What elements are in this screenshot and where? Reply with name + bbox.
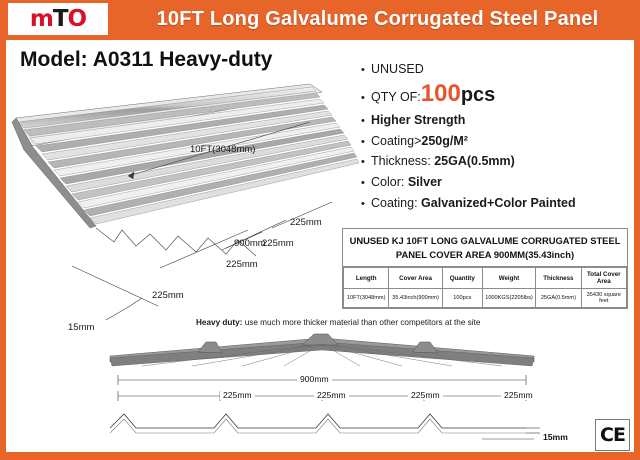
spec-title-line-2: PANEL COVER AREA 900MM(35.43inch) [349,248,621,262]
feature-label-color: Color: [371,175,404,191]
feature-item-coating-weight: • Coating> 250g/M² [361,134,626,150]
dimension-rib-label-1: 225mm [152,290,184,301]
feature-label-thickness: Thickness: [371,154,431,170]
section-height-label: 15mm [540,432,571,442]
note-text: use much more thicker material than othe… [242,318,480,327]
model-label: Model: A0311 Heavy-duty [20,48,272,72]
bullet-dot-icon: • [361,177,371,191]
cell-total-cover: 35430 square feet [581,289,626,308]
cell-length: 10FT(3048mm) [344,289,389,308]
dimension-rib-label-2: 225mm [226,259,258,270]
cell-cover-area: 35.43inch(900mm) [389,289,442,308]
specification-table-title: UNUSED KJ 10FT LONG GALVALUME CORRUGATED… [343,229,627,267]
bullet-dot-icon: • [361,92,371,106]
cell-quantity: 100pcs [442,289,482,308]
bullet-dot-icon: • [361,64,371,78]
quantity-number: 100 [421,83,461,105]
section-segment-label-1: 225mm [220,390,255,400]
bullet-dot-icon: • [361,136,371,150]
feature-value-thickness: 25GA(0.5mm) [434,154,515,170]
feature-list: • UNUSED • QTY OF: 100pcs • Higher Stren… [361,62,626,217]
section-total-width-label: 900mm [297,374,332,384]
section-segment-label-3: 225mm [408,390,443,400]
column-header-quantity: Quantity [442,268,482,289]
dimension-length-label: 10FT(3048mm) [190,144,255,155]
specification-table: UNUSED KJ 10FT LONG GALVALUME CORRUGATED… [342,228,628,309]
feature-value-coating-type: Galvanized+Color Painted [421,196,576,212]
page-title: 10FT Long Galvalume Corrugated Steel Pan… [120,0,635,38]
bullet-dot-icon: • [361,115,371,129]
feature-label-unused: UNUSED [371,62,424,78]
quantity-unit: pcs [461,83,495,108]
table-header-row: Length Cover Area Quantity Weight Thickn… [344,268,627,289]
bullet-dot-icon: • [361,198,371,212]
section-segment-label-2: 225mm [314,390,349,400]
brand-logo: mTO [8,3,108,35]
dimension-height-label: 15mm [68,322,94,333]
bullet-dot-icon: • [361,156,371,170]
column-header-total-cover: Total Cover Area [581,268,626,289]
feature-label-coating-type: Coating: [371,196,418,212]
panel-isometric-svg [10,70,360,330]
product-spec-sheet: mTO 10FT Long Galvalume Corrugated Steel… [0,0,640,460]
ce-mark-badge: CE [595,419,630,451]
feature-value-coating-weight: 250g/M² [421,134,468,150]
header-bar: mTO 10FT Long Galvalume Corrugated Steel… [0,0,640,38]
note-lead: Heavy duty: [196,318,242,327]
column-header-weight: Weight [482,268,535,289]
dimension-cover-label: 900mm [234,238,266,249]
feature-value-color: Silver [408,175,442,191]
feature-item-coating-type: • Coating: Galvanized+Color Painted [361,196,626,212]
feature-item-unused: • UNUSED [361,62,626,78]
cell-thickness: 25GA(0.5mm) [536,289,581,308]
cell-weight: 1000KGS(2205lbs) [482,289,535,308]
section-segment-label-4: 225mm [501,390,536,400]
feature-item-thickness: • Thickness: 25GA(0.5mm) [361,154,626,170]
feature-item-quantity: • QTY OF: 100pcs [361,83,626,108]
feature-label-quantity: QTY OF: [371,90,421,106]
cross-section-illustration: 900mm 225mm 225mm 225mm 225mm 15mm [102,332,542,412]
logo-text: mTO [30,8,86,31]
column-header-thickness: Thickness [536,268,581,289]
panel-isometric-illustration: 10FT(3048mm) 900mm 225mm 225mm 225mm 225… [10,70,360,330]
spec-title-line-1: UNUSED KJ 10FT LONG GALVALUME CORRUGATED… [349,234,621,248]
column-header-cover-area: Cover Area [389,268,442,289]
ce-mark-text: CE [600,424,625,446]
feature-item-color: • Color: Silver [361,175,626,191]
content-area: Model: A0311 Heavy-duty [6,40,634,452]
spec-table-grid: Length Cover Area Quantity Weight Thickn… [343,267,627,308]
column-header-length: Length [344,268,389,289]
table-row: 10FT(3048mm) 35.43inch(900mm) 100pcs 100… [344,289,627,308]
heavy-duty-note: Heavy duty: use much more thicker materi… [196,318,480,327]
feature-label-coating-weight: Coating> [371,134,421,150]
dimension-rib-label-3: 225mm [262,238,294,249]
feature-item-strength: • Higher Strength [361,113,626,129]
feature-label-strength: Higher Strength [371,113,465,129]
dimension-rib-label-4: 225mm [290,217,322,228]
